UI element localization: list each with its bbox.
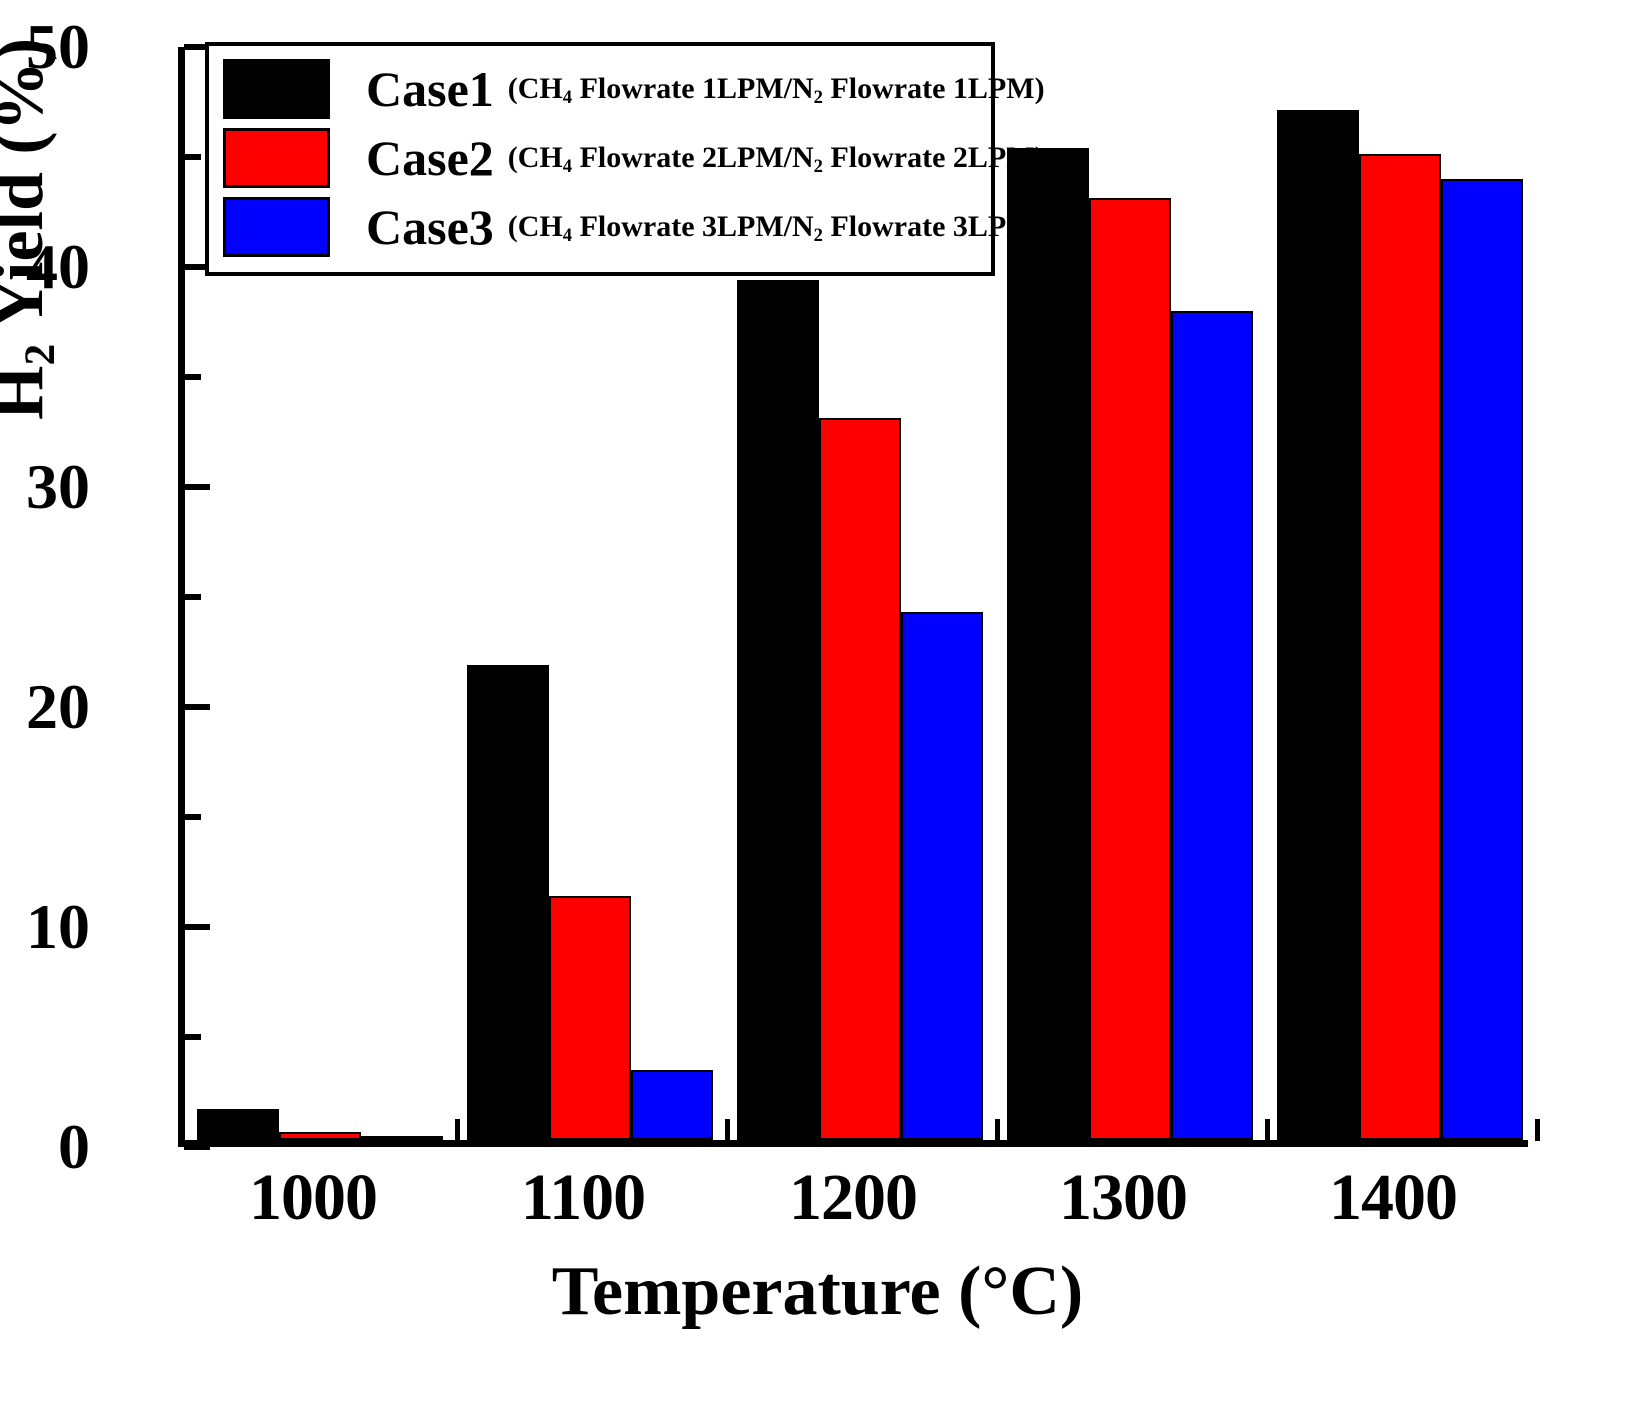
y-axis-title-subscript: 2 bbox=[16, 344, 64, 366]
bar-case3-1100 bbox=[631, 1070, 713, 1140]
bar-case1-1300 bbox=[1007, 148, 1089, 1140]
bar-case2-1100 bbox=[549, 896, 631, 1140]
legend-detail-post: Flowrate 2LPM) bbox=[823, 141, 1045, 174]
bar-case3-1300 bbox=[1171, 311, 1253, 1140]
legend-detail-pre: (CH bbox=[508, 210, 563, 243]
legend-item-case3[interactable]: Case3(CH4 Flowrate 3LPM/N2 Flowrate 3LPM… bbox=[223, 196, 977, 258]
bar-case1-1000 bbox=[197, 1109, 279, 1140]
y-axis-tick-label: 20 bbox=[0, 675, 90, 739]
y-axis-tick-label: 0 bbox=[0, 1115, 90, 1179]
y-axis-tick-label: 30 bbox=[0, 455, 90, 519]
legend-detail-subscript-2: 2 bbox=[814, 156, 823, 177]
y-axis-title: H2 Yield (%) bbox=[0, 38, 60, 420]
x-axis-tick-label: 1400 bbox=[1243, 1160, 1543, 1236]
legend-detail-case3: (CH4 Flowrate 3LPM/N2 Flowrate 3LPM) bbox=[508, 210, 1045, 244]
bar-case1-1100 bbox=[467, 665, 549, 1140]
legend-detail-case1: (CH4 Flowrate 1LPM/N2 Flowrate 1LPM) bbox=[508, 72, 1045, 106]
y-axis-major-tick bbox=[184, 1144, 210, 1150]
bar-case3-1400 bbox=[1441, 179, 1523, 1140]
y-axis-tick-label: 50 bbox=[0, 15, 90, 79]
bar-case2-1000 bbox=[279, 1132, 361, 1140]
legend-label-case3: Case3 bbox=[366, 198, 494, 256]
legend-detail-mid: Flowrate 1LPM/N bbox=[572, 72, 814, 105]
legend-detail-post: Flowrate 3LPM) bbox=[823, 210, 1045, 243]
legend-detail-pre: (CH bbox=[508, 72, 563, 105]
x-axis-title: Temperature (°C) bbox=[0, 1252, 1635, 1332]
legend-swatch-case1 bbox=[223, 59, 330, 119]
legend-detail-post: Flowrate 1LPM) bbox=[823, 72, 1045, 105]
legend-label-case1: Case1 bbox=[366, 60, 494, 118]
bar-case1-1400 bbox=[1277, 110, 1359, 1140]
y-axis-title-pre: H bbox=[0, 366, 58, 420]
legend-detail-subscript-4: 4 bbox=[563, 225, 572, 246]
legend-detail-subscript-2: 2 bbox=[814, 87, 823, 108]
bar-case2-1200 bbox=[819, 418, 901, 1140]
bar-case3-1200 bbox=[901, 612, 983, 1140]
legend-detail-mid: Flowrate 2LPM/N bbox=[572, 141, 814, 174]
legend-detail-subscript-4: 4 bbox=[563, 156, 572, 177]
legend-item-case2[interactable]: Case2(CH4 Flowrate 2LPM/N2 Flowrate 2LPM… bbox=[223, 127, 977, 189]
legend-label-case2: Case2 bbox=[366, 129, 494, 187]
x-axis-tick-label: 1000 bbox=[163, 1160, 463, 1236]
x-axis-tick bbox=[1535, 1119, 1540, 1141]
legend-detail-case2: (CH4 Flowrate 2LPM/N2 Flowrate 2LPM) bbox=[508, 141, 1045, 175]
bar-case2-1400 bbox=[1359, 154, 1441, 1140]
bar-chart-figure: H2 Yield (%) Temperature (°C) 0102030405… bbox=[0, 0, 1635, 1405]
legend-item-case1[interactable]: Case1(CH4 Flowrate 1LPM/N2 Flowrate 1LPM… bbox=[223, 58, 977, 120]
x-axis-tick-label: 1300 bbox=[973, 1160, 1273, 1236]
legend-detail-subscript-4: 4 bbox=[563, 87, 572, 108]
y-axis-tick-label: 10 bbox=[0, 895, 90, 959]
legend-swatch-case3 bbox=[223, 197, 330, 257]
legend: Case1(CH4 Flowrate 1LPM/N2 Flowrate 1LPM… bbox=[205, 42, 995, 276]
bar-case2-1300 bbox=[1089, 198, 1171, 1140]
legend-detail-subscript-2: 2 bbox=[814, 225, 823, 246]
legend-detail-pre: (CH bbox=[508, 141, 563, 174]
bar-case1-1200 bbox=[737, 280, 819, 1140]
legend-swatch-case2 bbox=[223, 128, 330, 188]
bar-case3-1000 bbox=[361, 1136, 443, 1140]
legend-detail-mid: Flowrate 3LPM/N bbox=[572, 210, 814, 243]
y-axis-tick-label: 40 bbox=[0, 235, 90, 299]
x-axis-tick-label: 1100 bbox=[433, 1160, 733, 1236]
x-axis-tick-label: 1200 bbox=[703, 1160, 1003, 1236]
